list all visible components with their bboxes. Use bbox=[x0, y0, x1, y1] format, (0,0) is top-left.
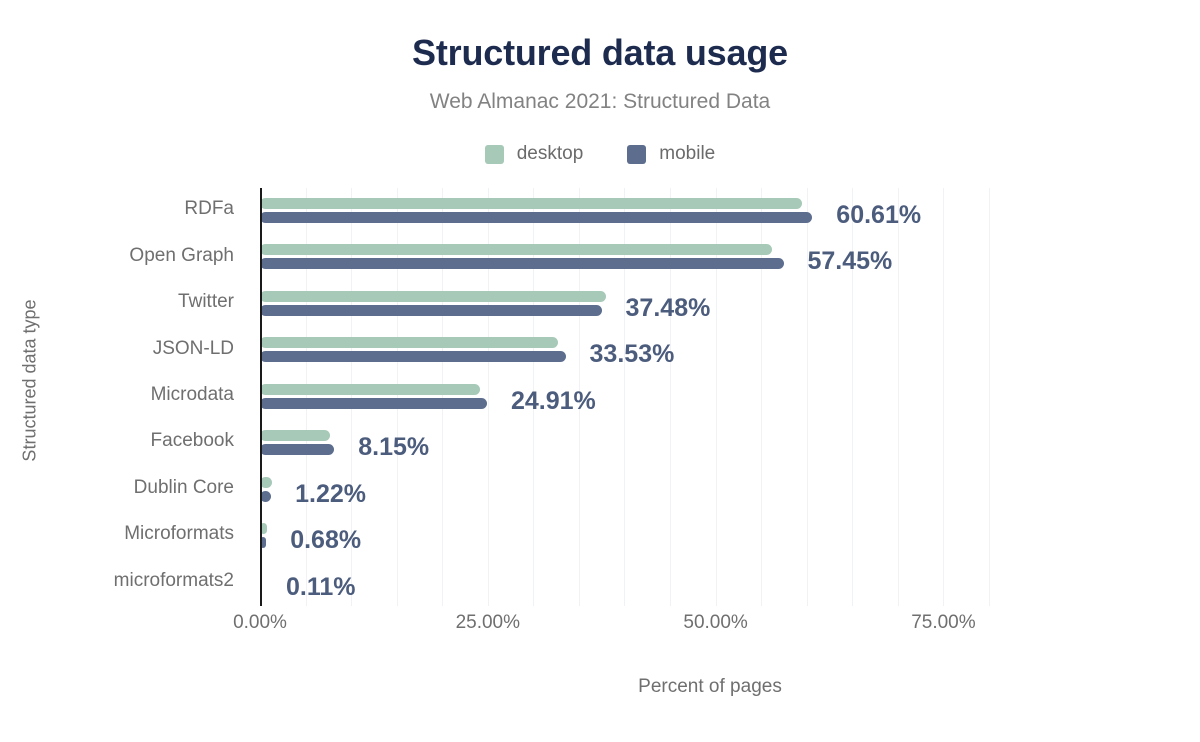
bar-value-label: 37.48% bbox=[626, 294, 711, 323]
chart-legend: desktop mobile bbox=[0, 143, 1200, 165]
bar-desktop[interactable] bbox=[260, 198, 802, 209]
bar-row: 0.68% bbox=[260, 513, 1030, 559]
bar-mobile[interactable] bbox=[260, 305, 602, 316]
legend-label-mobile: mobile bbox=[659, 143, 715, 165]
x-axis-tick: 0.00% bbox=[233, 612, 287, 634]
bar-row: 37.48% bbox=[260, 281, 1030, 327]
bar-mobile[interactable] bbox=[260, 258, 784, 269]
legend-swatch-desktop bbox=[485, 145, 504, 164]
bar-row: 33.53% bbox=[260, 327, 1030, 373]
bar-mobile[interactable] bbox=[260, 212, 812, 223]
bar-value-label: 57.45% bbox=[808, 247, 893, 276]
bar-value-label: 24.91% bbox=[511, 387, 596, 416]
bar-value-label: 60.61% bbox=[836, 201, 921, 230]
y-axis-tick-microdata: Microdata bbox=[14, 384, 234, 406]
x-axis-tick: 25.00% bbox=[456, 612, 520, 634]
bar-desktop[interactable] bbox=[260, 337, 558, 348]
x-axis-title: Percent of pages bbox=[380, 676, 1040, 698]
legend-item-mobile[interactable]: mobile bbox=[627, 143, 715, 165]
bar-mobile[interactable] bbox=[260, 398, 487, 409]
y-axis-tick-rdfa: RDFa bbox=[14, 198, 234, 220]
bar-mobile[interactable] bbox=[260, 444, 334, 455]
y-axis-tick-dublin-core: Dublin Core bbox=[14, 477, 234, 499]
y-axis-tick-json-ld: JSON-LD bbox=[14, 338, 234, 360]
y-axis-title: Structured data type bbox=[20, 291, 41, 471]
y-axis-tick-open-graph: Open Graph bbox=[14, 245, 234, 267]
x-axis-tick: 75.00% bbox=[911, 612, 975, 634]
bar-value-label: 8.15% bbox=[358, 433, 429, 462]
bar-mobile[interactable] bbox=[260, 351, 566, 362]
bar-desktop[interactable] bbox=[260, 244, 772, 255]
bar-rows: 60.61%57.45%37.48%33.53%24.91%8.15%1.22%… bbox=[260, 188, 1030, 606]
plot-area: 60.61%57.45%37.48%33.53%24.91%8.15%1.22%… bbox=[260, 188, 1030, 606]
bar-row: 60.61% bbox=[260, 188, 1030, 234]
y-axis-tick-twitter: Twitter bbox=[14, 291, 234, 313]
bar-row: 8.15% bbox=[260, 420, 1030, 466]
bar-value-label: 0.11% bbox=[286, 573, 356, 602]
chart-subtitle: Web Almanac 2021: Structured Data bbox=[0, 90, 1200, 114]
bar-desktop[interactable] bbox=[260, 291, 606, 302]
bar-value-label: 33.53% bbox=[590, 340, 675, 369]
bar-desktop[interactable] bbox=[260, 430, 330, 441]
bar-row: 24.91% bbox=[260, 374, 1030, 420]
bar-row: 57.45% bbox=[260, 234, 1030, 280]
x-axis-tick-labels: 0.00%25.00%50.00%75.00% bbox=[260, 612, 1030, 640]
chart-title: Structured data usage bbox=[0, 32, 1200, 74]
y-axis-line bbox=[260, 188, 262, 606]
y-axis-tick-facebook: Facebook bbox=[14, 430, 234, 452]
bar-desktop[interactable] bbox=[260, 384, 480, 395]
bar-row: 0.11% bbox=[260, 560, 1030, 606]
bar-row: 1.22% bbox=[260, 467, 1030, 513]
structured-data-usage-chart: Structured data usage Web Almanac 2021: … bbox=[0, 0, 1200, 742]
y-axis-tick-microformats2: microformats2 bbox=[14, 570, 234, 592]
legend-swatch-mobile bbox=[627, 145, 646, 164]
y-axis-tick-microformats: Microformats bbox=[14, 523, 234, 545]
x-axis-tick: 50.00% bbox=[683, 612, 747, 634]
legend-item-desktop[interactable]: desktop bbox=[485, 143, 584, 165]
bar-value-label: 0.68% bbox=[290, 526, 361, 555]
bar-value-label: 1.22% bbox=[295, 480, 366, 509]
legend-label-desktop: desktop bbox=[517, 143, 584, 165]
